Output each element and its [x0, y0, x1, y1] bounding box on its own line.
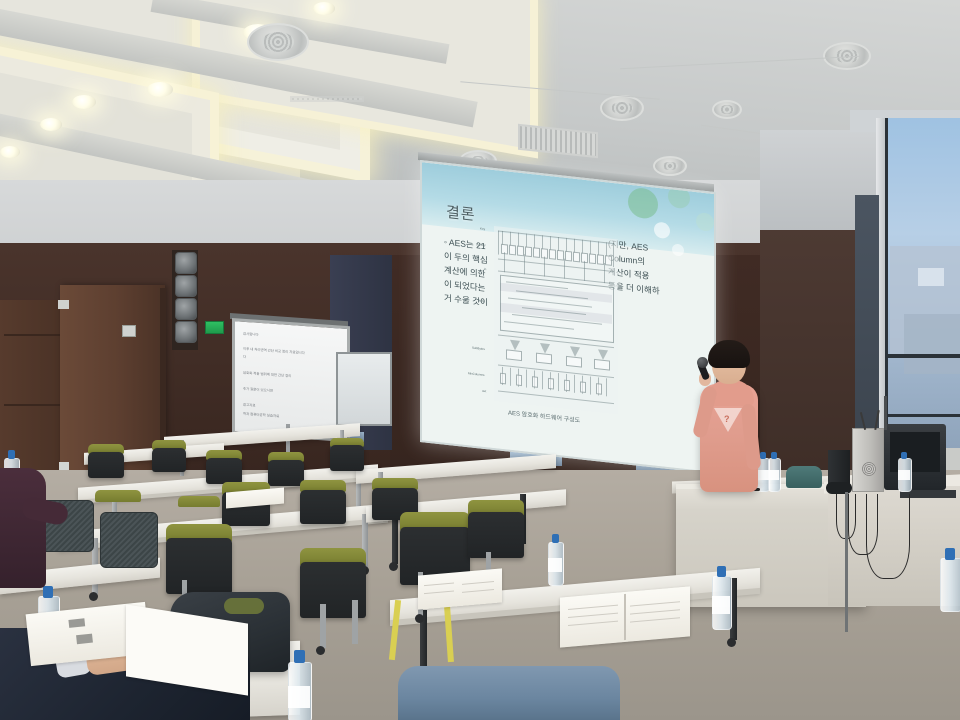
diagram-row-label: in: [484, 267, 486, 271]
building-outside: [904, 314, 960, 374]
decor-bubble: [672, 243, 684, 256]
downlight-icon: [313, 2, 335, 15]
seated-student-jeans: [398, 666, 620, 720]
computer-tower[interactable]: [852, 428, 884, 492]
downlight-icon: [0, 146, 20, 158]
small-screen-line: 암호화 적용 범위에 대한 간단 정리: [243, 370, 291, 379]
jacket-highlight: [224, 598, 264, 614]
presenter-hair: [708, 340, 750, 368]
ceiling-vent-icon: [712, 100, 742, 119]
exit-sign-icon: [205, 321, 224, 334]
hoodie-logo-text: ?: [724, 414, 730, 424]
downlight-icon: [40, 118, 62, 131]
tower-vent-icon: [862, 462, 876, 476]
notebook-spine: [624, 594, 626, 640]
desk-caster: [89, 592, 98, 601]
desk-caster: [727, 638, 736, 647]
water-bottle[interactable]: [712, 566, 730, 628]
decor-bubble: [654, 221, 670, 239]
chair-leg: [320, 604, 326, 648]
small-screen-line: 이후 내 처리영역 간단 비교 정리 자료입니다: [243, 346, 305, 356]
small-screen-line: 참고자료: [243, 402, 255, 409]
window-mullion: [884, 414, 960, 417]
decor-bubble: [628, 187, 658, 220]
water-bottle[interactable]: [898, 452, 910, 490]
water-bottle[interactable]: [768, 452, 779, 490]
notebook-tab: [76, 634, 93, 645]
cable: [866, 494, 910, 579]
desk-lamp-head: [826, 482, 852, 494]
aes-hardware-diagram: Key subkey in state SubBytes MixColumns …: [494, 226, 618, 414]
slide-caption: AES 암호화 하드웨어 구성도: [508, 408, 580, 425]
small-projection-screen: 감사합니다 이후 내 처리영역 간단 비교 정리 자료입니다 다 암호화 적용 …: [232, 318, 350, 442]
diagram-row-label: MixColumns: [468, 371, 485, 377]
desk-caster: [389, 562, 398, 571]
small-screen-line: 감사합니다: [243, 331, 259, 338]
slide-title: 결론: [446, 201, 476, 225]
diagram-row-label: SubBytes: [472, 346, 485, 351]
decor-bubble: [696, 212, 714, 232]
chair-leg: [352, 600, 358, 644]
building-outside: [918, 268, 944, 286]
small-screen-line: 다: [243, 354, 246, 360]
downlight-icon: [147, 82, 173, 97]
ceiling-vent-icon: [247, 23, 309, 61]
diagram-row-label: out: [482, 389, 486, 393]
lecture-room-photo: 결론 ◦ AES는 21 이 두의 핵심 계산에 의한 이 되었다는 거 수울 …: [0, 0, 960, 720]
whiteboard: [336, 352, 392, 426]
speaker-icon: [175, 298, 197, 320]
mic-stand: [884, 396, 887, 430]
microphone-head: [697, 357, 708, 368]
decor-bubble: [668, 185, 690, 209]
speaker-icon: [175, 275, 197, 297]
chair-caster: [415, 614, 424, 623]
speaker-icon: [175, 252, 197, 274]
left-student: [0, 468, 46, 588]
speaker-icon: [175, 321, 197, 343]
notebook-tab: [68, 618, 85, 628]
small-screen-line: 추가 질문이 있으시면: [243, 386, 273, 394]
cable-pole: [845, 492, 848, 632]
water-bottle[interactable]: [548, 534, 562, 584]
small-screen-line: 학과 컴퓨터공학 실습자료: [243, 411, 279, 420]
chair-caster: [316, 646, 325, 655]
hvac-grille: [290, 96, 364, 102]
wall-outlet[interactable]: [58, 300, 69, 309]
wall-outlet[interactable]: [122, 325, 136, 337]
projection-screen: 결론 ◦ AES는 21 이 두의 핵심 계산에 의한 이 되었다는 거 수울 …: [420, 160, 716, 474]
diagram-row-label: state: [478, 298, 485, 303]
ceiling-vent-icon: [600, 95, 644, 121]
chair-mesh-back[interactable]: [100, 512, 158, 568]
slide-canvas: 결론 ◦ AES는 21 이 두의 핵심 계산에 의한 이 되었다는 거 수울 …: [422, 162, 714, 472]
water-bottle[interactable]: [940, 548, 960, 610]
ceiling-vent-icon: [653, 156, 687, 176]
water-bottle[interactable]: [288, 650, 310, 720]
diagram-row-label: Key: [480, 227, 485, 232]
teal-chair[interactable]: [786, 466, 822, 488]
window-mullion: [884, 354, 960, 358]
window: [884, 118, 960, 448]
downlight-icon: [72, 95, 96, 109]
